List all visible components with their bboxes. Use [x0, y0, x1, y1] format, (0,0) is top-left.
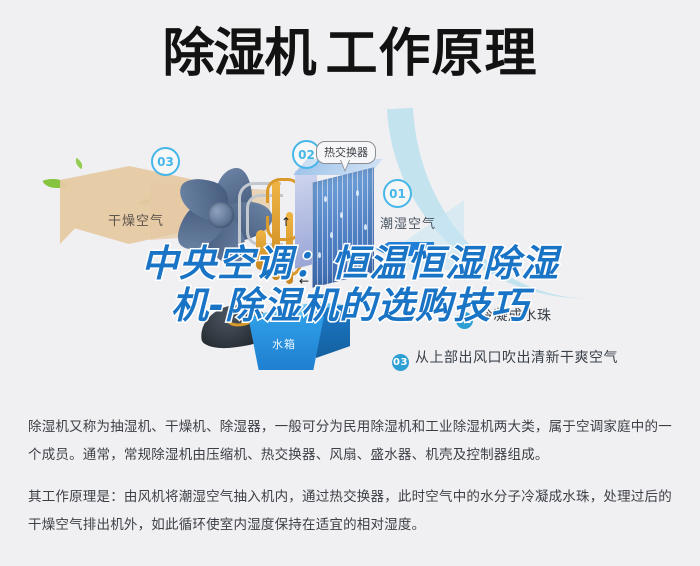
dry-air-label: 干燥空气 — [108, 210, 164, 229]
watermark-line-1: 中央空调：恒温恒湿除湿 — [0, 243, 700, 285]
humid-air-label: 潮湿空气 — [380, 213, 436, 232]
watermark-overlay: 中央空调：恒温恒湿除湿 机-除湿机的选购技巧 — [0, 243, 700, 327]
fan-hub — [208, 202, 234, 228]
page-title: 除湿机工作原理 — [0, 26, 700, 83]
page-title-part-b: 工作原理 — [326, 24, 538, 84]
caption-text-03: 从上部出风口吹出清新干爽空气 — [415, 350, 618, 366]
caption-badge-03: 03 — [392, 354, 409, 371]
body-paragraph-2: 其工作原理是：由风机将潮湿空气抽入机内，通过热交换器，此时空气中的水分子冷凝成水… — [28, 484, 676, 539]
caption-step-03: 03从上部出风口吹出清新干爽空气 — [392, 347, 618, 371]
dehumidifier-article-image: 除湿机工作原理 干燥空气 03 ← ↑ ↓ — [0, 0, 700, 566]
leaf-icon — [73, 158, 85, 169]
body-paragraph-1: 除湿机又称为抽湿机、干燥机、除湿器，一般可分为民用除湿机和工业除湿机两大类，属于… — [28, 414, 676, 469]
water-tank-label: 水箱 — [272, 336, 296, 352]
callout-tail-icon — [340, 160, 350, 172]
watermark-line-2: 机-除湿机的选购技巧 — [0, 285, 700, 327]
page-title-part-a: 除湿机 — [162, 24, 315, 84]
step-number-01: 01 — [383, 179, 412, 208]
